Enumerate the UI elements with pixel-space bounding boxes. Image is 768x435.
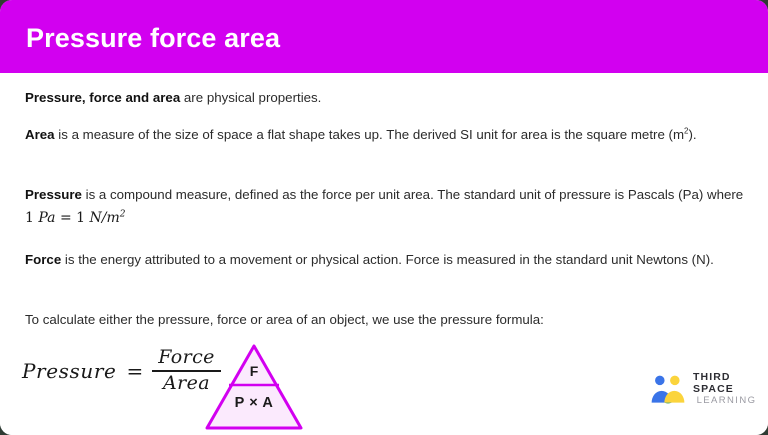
triangle-label-force: F bbox=[203, 363, 305, 379]
pascal-eq-superscript: 2 bbox=[120, 209, 126, 219]
paragraph-pressure-text: is a compound measure, defined as the fo… bbox=[82, 187, 743, 202]
paragraph-force: Force is the energy attributed to a move… bbox=[25, 248, 747, 271]
paragraph-formula-intro: To calculate either the pressure, force … bbox=[25, 308, 747, 331]
logo-line-learning: LEARNING bbox=[693, 395, 760, 407]
pascal-eq-one-right: 1 bbox=[76, 210, 85, 226]
header-banner: Pressure force area bbox=[0, 0, 768, 73]
page-title: Pressure force area bbox=[26, 23, 280, 54]
triangle-label-pressure-area: P × A bbox=[203, 395, 305, 411]
paragraph-intro: Pressure, force and area are physical pr… bbox=[25, 86, 747, 109]
paragraph-force-text: is the energy attributed to a movement o… bbox=[61, 252, 714, 267]
pascal-eq-newtons-per-metre: N/m bbox=[90, 210, 120, 226]
formula-equals-sign: = bbox=[126, 359, 143, 383]
logo-line-third-space: THIRD SPACE bbox=[693, 371, 760, 395]
paragraph-area-tail: ). bbox=[689, 127, 697, 142]
logo-head-yellow bbox=[670, 376, 679, 385]
paragraph-force-bold: Force bbox=[25, 252, 61, 267]
logo-body-overlap-green bbox=[664, 403, 671, 404]
logo-mark-icon bbox=[648, 373, 688, 405]
paragraph-pressure-bold: Pressure bbox=[25, 187, 82, 202]
logo-head-blue bbox=[655, 376, 664, 385]
pascal-eq-one: 1 bbox=[25, 210, 34, 226]
pascal-equation: 1 Pa = 1 N/m2 bbox=[25, 210, 126, 226]
logo-wordmark: THIRD SPACE LEARNING bbox=[693, 371, 760, 407]
paragraph-intro-text: are physical properties. bbox=[180, 90, 321, 105]
paragraph-formula-intro-text: To calculate either the pressure, force … bbox=[25, 312, 544, 327]
triangle-shape bbox=[203, 341, 305, 433]
pressure-formula: Pressure = Force Area bbox=[22, 348, 221, 393]
formula-triangle-diagram: F P × A bbox=[203, 341, 305, 433]
third-space-learning-logo: THIRD SPACE LEARNING bbox=[648, 371, 760, 407]
paragraph-area-bold: Area bbox=[25, 127, 55, 142]
paragraph-pressure: Pressure is a compound measure, defined … bbox=[25, 183, 747, 230]
lesson-slide: Pressure force area Pressure, force and … bbox=[0, 0, 768, 435]
formula-left-term: Pressure bbox=[22, 359, 116, 383]
paragraph-area: Area is a measure of the size of space a… bbox=[25, 123, 747, 146]
pascal-eq-pa: Pa bbox=[38, 210, 55, 226]
pascal-eq-equals: = bbox=[60, 210, 72, 226]
paragraph-intro-bold: Pressure, force and area bbox=[25, 90, 180, 105]
paragraph-area-text: is a measure of the size of space a flat… bbox=[55, 127, 684, 142]
logo-body-yellow bbox=[664, 391, 684, 403]
triangle-outline bbox=[207, 346, 301, 428]
